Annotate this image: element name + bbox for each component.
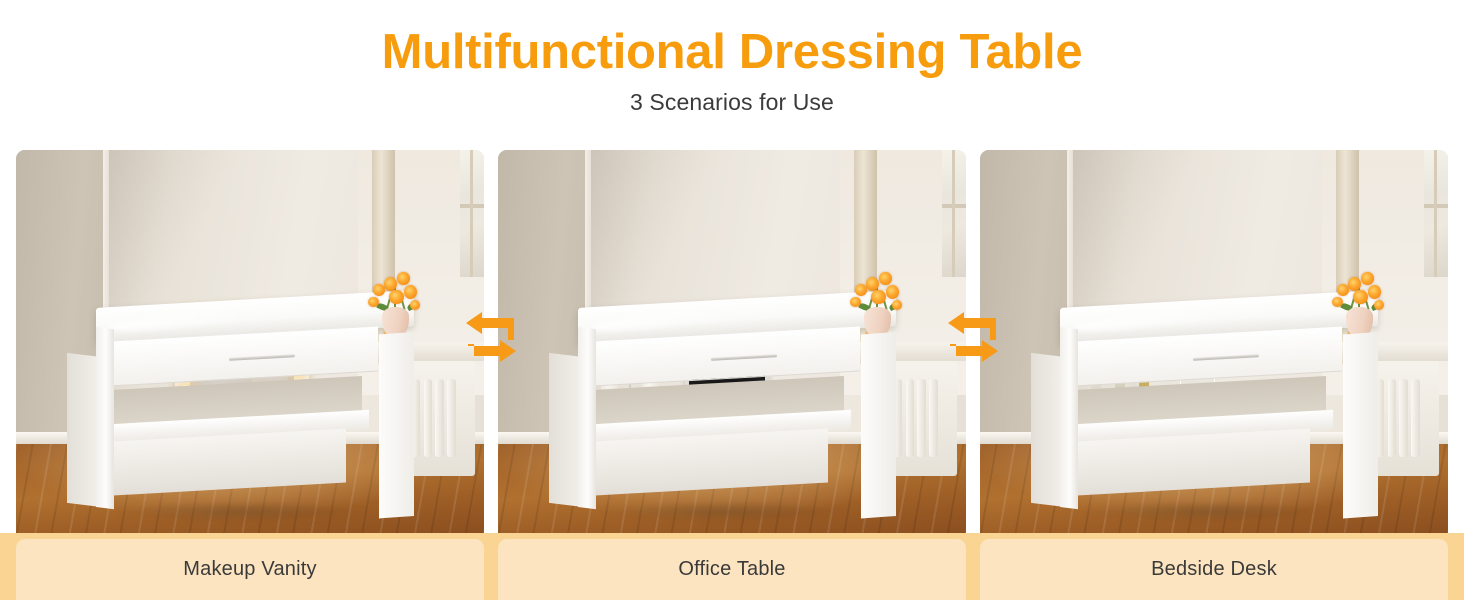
desk-top-sheen xyxy=(108,299,305,336)
desk-top-sheen xyxy=(590,299,787,336)
flower-bloom xyxy=(1337,284,1348,296)
window-mullion xyxy=(1434,150,1437,277)
desk-right-side-panel xyxy=(861,332,896,519)
flower-bloom xyxy=(389,290,404,305)
scenario-panel-bedside-desk[interactable]: Bedside Desk xyxy=(980,150,1448,600)
desk-left-side-panel xyxy=(96,327,114,509)
flower-bloom xyxy=(397,272,409,284)
room-scene-bedside xyxy=(980,150,1448,533)
flower-bloom xyxy=(1332,297,1342,307)
page-title: Multifunctional Dressing Table xyxy=(0,27,1464,78)
flower-bloom xyxy=(1361,272,1373,284)
office-desk xyxy=(578,299,896,513)
desk-left-side-panel xyxy=(1060,327,1078,509)
scenario-panel-office-table[interactable]: Office Table xyxy=(498,150,966,600)
bedside-desk xyxy=(1060,299,1378,513)
flower-bloom xyxy=(410,300,420,310)
flower-bloom xyxy=(404,285,417,299)
scenario-panel-makeup-vanity[interactable]: Makeup Vanity xyxy=(16,150,484,600)
desk-right-side-panel xyxy=(379,332,414,519)
flower-bloom xyxy=(855,284,866,296)
scenario-caption-office-table: Office Table xyxy=(498,539,966,600)
room-scene-office xyxy=(498,150,966,533)
room-scene-vanity xyxy=(16,150,484,533)
dressing-table xyxy=(96,299,414,513)
drawer-handle xyxy=(229,354,296,361)
flower-bloom xyxy=(871,290,886,305)
scenario-photo-makeup-vanity xyxy=(16,150,484,533)
scenario-caption-label: Makeup Vanity xyxy=(183,558,316,581)
flower-bloom xyxy=(384,277,397,291)
drawer-handle xyxy=(1193,354,1260,361)
window-mullion xyxy=(470,150,473,277)
scenario-caption-makeup-vanity: Makeup Vanity xyxy=(16,539,484,600)
desk-top-sheen xyxy=(1072,299,1269,336)
flower-bloom xyxy=(850,297,860,307)
scenario-photo-office-table xyxy=(498,150,966,533)
flower-bloom xyxy=(892,300,902,310)
flower-bloom xyxy=(1368,285,1381,299)
flower-bloom xyxy=(1353,290,1368,305)
flower-bloom xyxy=(886,285,899,299)
window-mullion xyxy=(952,150,955,277)
desk-left-side-panel xyxy=(578,327,596,509)
scenario-photo-bedside-desk xyxy=(980,150,1448,533)
drawer-handle xyxy=(711,354,778,361)
flower-bloom xyxy=(866,277,879,291)
flower-bloom xyxy=(879,272,891,284)
banner-header: Multifunctional Dressing Table 3 Scenari… xyxy=(0,0,1464,148)
desk-shadow xyxy=(115,501,370,522)
desk-shadow xyxy=(597,501,852,522)
scenario-caption-bedside-desk: Bedside Desk xyxy=(980,539,1448,600)
page-subtitle: 3 Scenarios for Use xyxy=(0,89,1464,116)
flower-bloom xyxy=(1348,277,1361,291)
product-feature-banner: Multifunctional Dressing Table 3 Scenari… xyxy=(0,0,1464,600)
flower-bloom xyxy=(373,284,384,296)
scenario-panels: Makeup Vanity xyxy=(0,150,1464,600)
desk-shadow xyxy=(1079,501,1334,522)
flower-bloom xyxy=(368,297,378,307)
desk-right-side-panel xyxy=(1343,332,1378,519)
scenario-caption-label: Bedside Desk xyxy=(1151,558,1277,581)
scenario-caption-label: Office Table xyxy=(678,558,785,581)
flower-bloom xyxy=(1374,300,1384,310)
